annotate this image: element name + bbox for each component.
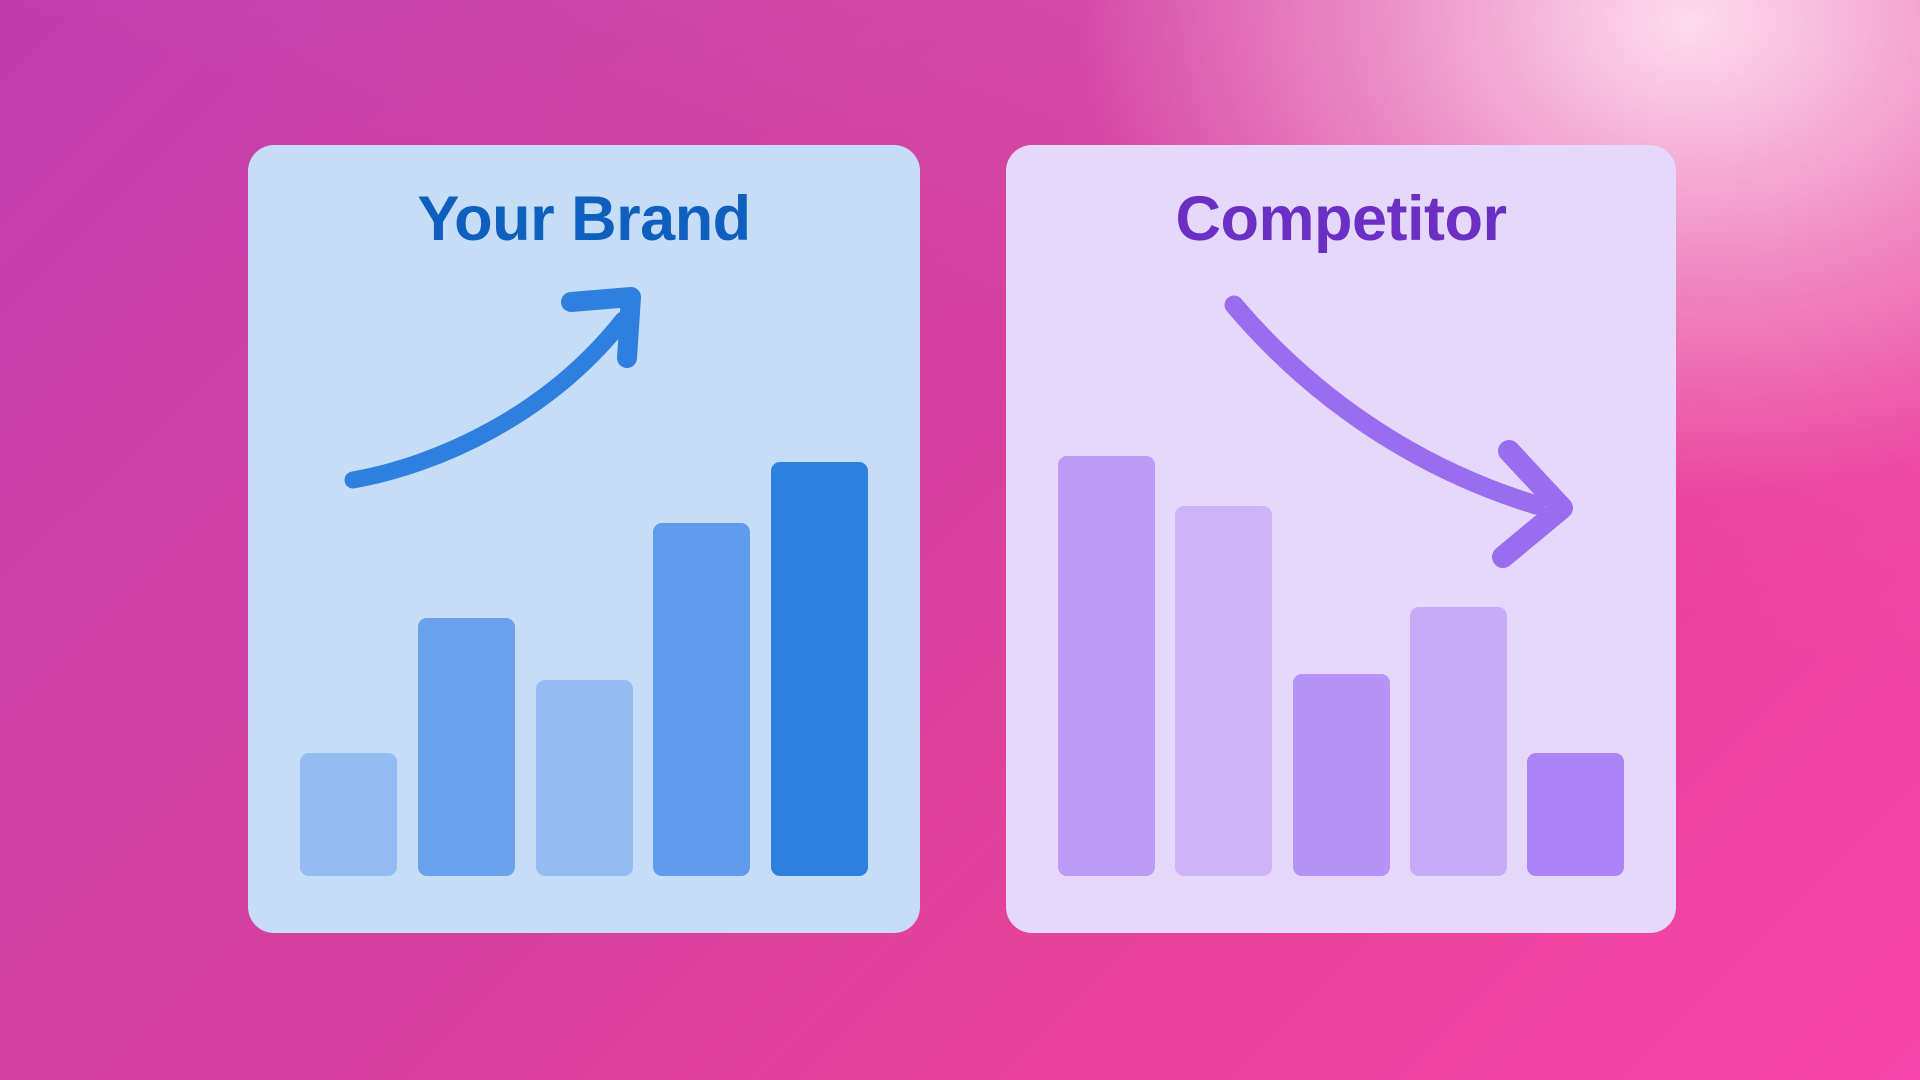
bar-chart-competitor <box>1006 145 1676 933</box>
bar-competitor-3 <box>1293 674 1390 876</box>
bar-group-your-brand <box>300 316 868 876</box>
bar-chart-your-brand <box>248 145 920 933</box>
bar-group-competitor <box>1058 316 1624 876</box>
bar-your-brand-1 <box>300 753 397 876</box>
comparison-cards: Your Brand Competitor <box>0 0 1920 1080</box>
bar-competitor-1 <box>1058 456 1155 876</box>
bar-your-brand-2 <box>418 618 515 876</box>
bar-competitor-4 <box>1410 607 1507 876</box>
bar-competitor-5 <box>1527 753 1624 876</box>
card-your-brand[interactable]: Your Brand <box>248 145 920 933</box>
bar-your-brand-3 <box>536 680 633 876</box>
bar-your-brand-4 <box>653 523 750 876</box>
bar-your-brand-5 <box>771 462 868 876</box>
card-competitor[interactable]: Competitor <box>1006 145 1676 933</box>
bar-competitor-2 <box>1175 506 1272 876</box>
